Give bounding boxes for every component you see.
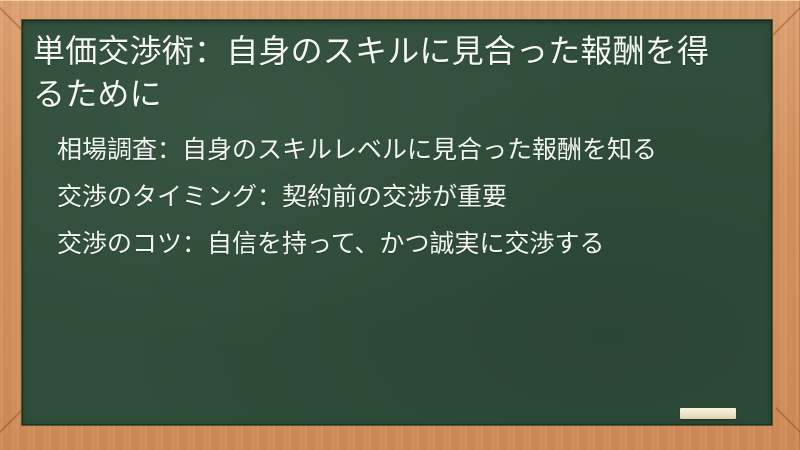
chalkboard: 単価交渉術：自身のスキルに見合った報酬を得るために 相場調査：自身のスキルレベル… (22, 20, 772, 425)
chalkboard-content: 単価交渉術：自身のスキルに見合った報酬を得るために 相場調査：自身のスキルレベル… (22, 20, 772, 425)
frame-miter-top-right (769, 5, 800, 39)
chalk-stick-icon (680, 408, 736, 419)
list-item: 交渉のタイミング：契約前の交渉が重要 (57, 180, 737, 214)
list-item: 交渉のコツ：自信を持って、かつ誠実に交渉する (57, 227, 737, 261)
list-item: 相場調査：自身のスキルレベルに見合った報酬を知る (57, 133, 737, 167)
frame-miter-bottom-right (775, 407, 800, 441)
page-title: 単価交渉術：自身のスキルに見合った報酬を得るために (33, 30, 738, 115)
bullet-list: 相場調査：自身のスキルレベルに見合った報酬を知る 交渉のタイミング：契約前の交渉… (33, 133, 756, 261)
slide-canvas: 単価交渉術：自身のスキルに見合った報酬を得るために 相場調査：自身のスキルレベル… (0, 0, 800, 450)
